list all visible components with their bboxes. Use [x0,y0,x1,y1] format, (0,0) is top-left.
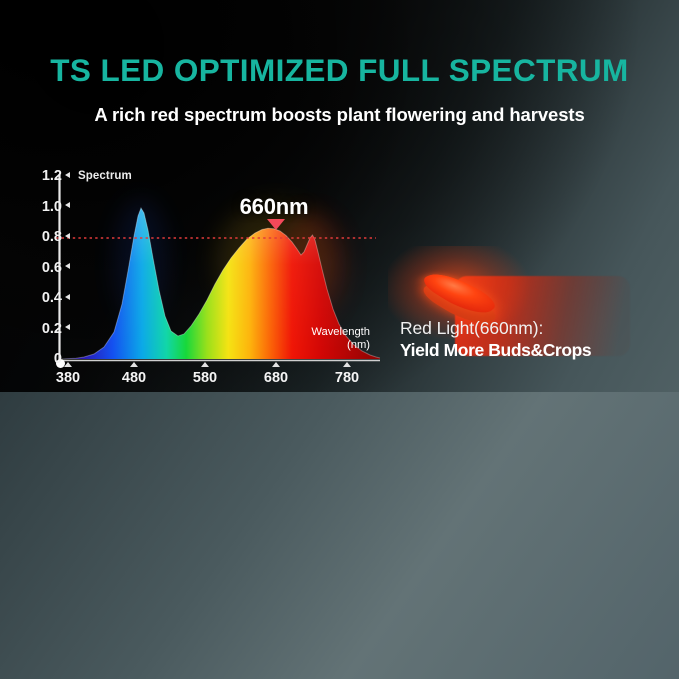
x-tick-marker-780 [343,362,351,367]
grow-light-photo [0,392,679,679]
y-tick-0.6: 0.6 [28,261,62,276]
y-tick-0.4: 0.4 [28,291,62,306]
y-axis-title: Spectrum [78,170,132,182]
page-title: TS LED OPTIMIZED FULL SPECTRUM [0,52,679,89]
x-tick-580: 580 [193,370,217,386]
y-tick-0: 0 [28,352,62,367]
x-tick-680: 680 [264,370,288,386]
y-tick-0.8: 0.8 [28,230,62,245]
x-tick-780: 780 [335,370,359,386]
red-light-callout: Red Light(660nm): Yield More Buds&Crops [400,318,662,361]
y-tick-marker-0.6 [65,263,70,269]
callout-primary-text: Red Light(660nm): [400,318,662,340]
photo-background [0,392,679,679]
spectrum-chart: 0 0.2 0.4 0.6 0.8 1.0 1.2 Spectrum 380 4… [24,166,380,391]
y-tick-0.2: 0.2 [28,322,62,337]
x-axis-title-unit: (nm) [290,339,370,352]
peak-annotation-label: 660nm [214,194,334,220]
peak-annotation-triangle-icon [267,219,285,230]
x-tick-marker-380 [64,362,72,367]
x-tick-marker-480 [130,362,138,367]
y-tick-1.2: 1.2 [28,169,62,184]
x-tick-marker-680 [272,362,280,367]
x-tick-marker-580 [201,362,209,367]
y-tick-1.0: 1.0 [28,200,62,215]
x-tick-480: 480 [122,370,146,386]
red-led-chip-icon [404,262,514,324]
page-subtitle: A rich red spectrum boosts plant floweri… [0,104,679,126]
callout-secondary-text: Yield More Buds&Crops [400,340,662,362]
y-tick-marker-1.0 [65,202,70,208]
y-axis-labels: 0 0.2 0.4 0.6 0.8 1.0 1.2 [24,166,62,366]
poster-canvas: TS LED OPTIMIZED FULL SPECTRUM A rich re… [0,0,679,679]
x-axis-title-text: Wavelength [290,326,370,339]
x-tick-380: 380 [56,370,80,386]
y-tick-marker-0.2 [65,324,70,330]
y-tick-marker-0.4 [65,294,70,300]
y-tick-marker-0.8 [65,233,70,239]
x-axis-title: Wavelength (nm) [290,326,370,351]
y-tick-marker-1.2 [65,172,70,178]
